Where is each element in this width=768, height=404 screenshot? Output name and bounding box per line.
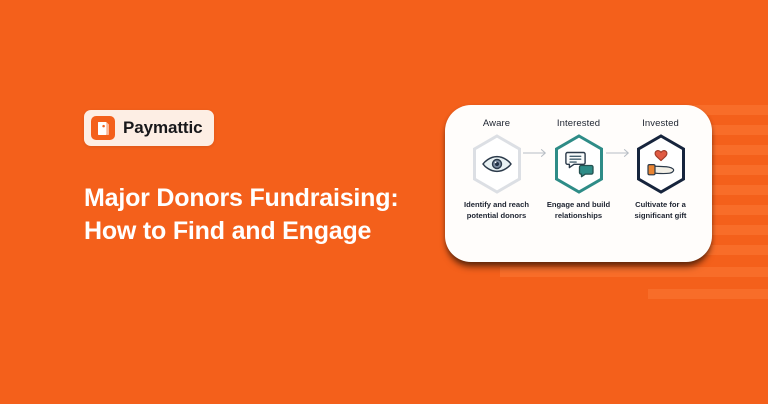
stage-title: Invested [642, 118, 679, 129]
promo-banner: { "banner": { "background_color": "#F460… [0, 0, 768, 404]
stage-title: Interested [557, 118, 600, 129]
stripe [500, 267, 768, 277]
stage-badge-aware [470, 134, 524, 194]
heart-in-hand-icon [646, 149, 676, 179]
chat-bubbles-icon [564, 149, 594, 179]
stage-caption: Engage and build relationships [547, 200, 610, 222]
paymattic-card-icon [91, 116, 115, 140]
funnel-stages: Aware Identify and reach potential donor… [445, 105, 712, 262]
paymattic-logo: Paymattic [84, 110, 214, 146]
stage-badge-invested [634, 134, 688, 194]
page-title: Major Donors Fundraising: How to Find an… [84, 182, 414, 249]
eye-icon [482, 149, 512, 179]
arrow-right-icon [606, 148, 632, 158]
donor-funnel-card: Aware Identify and reach potential donor… [445, 105, 712, 262]
stage-badge-interested [552, 134, 606, 194]
paymattic-logo-text: Paymattic [123, 118, 202, 138]
stripe [648, 289, 768, 299]
arrow-right-icon [523, 148, 549, 158]
funnel-stage-invested: Invested Cultivate for a significant gif… [620, 118, 702, 222]
funnel-stage-interested: Interested Engage and build relationship… [538, 118, 620, 222]
funnel-stage-aware: Aware Identify and reach potential donor… [456, 118, 538, 222]
stage-caption: Identify and reach potential donors [464, 200, 529, 222]
stage-caption: Cultivate for a significant gift [635, 200, 687, 222]
stage-title: Aware [483, 118, 510, 129]
banner-text-column: Paymattic Major Donors Fundraising: How … [84, 110, 424, 249]
